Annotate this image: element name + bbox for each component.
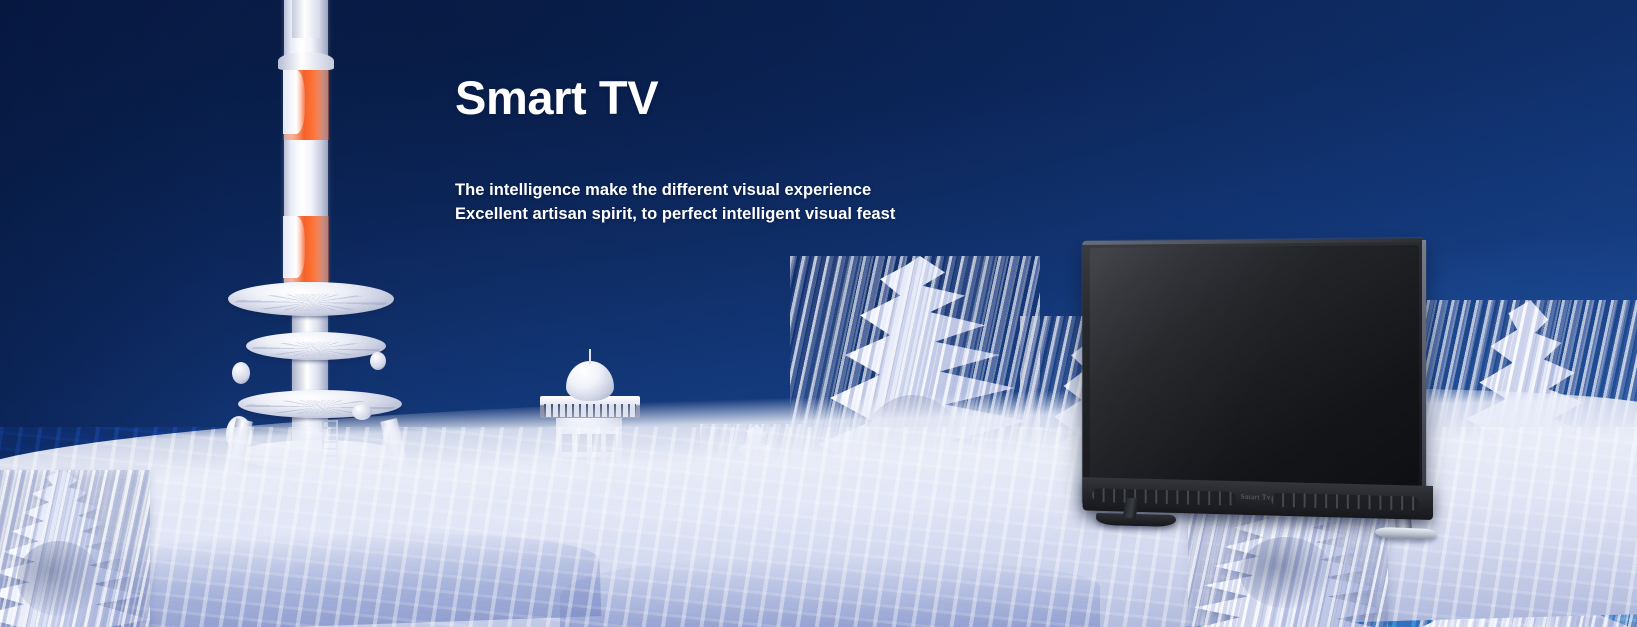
subtitle-line-1: The intelligence make the different visu… <box>455 179 1075 203</box>
tower-dish-platform-3 <box>238 390 402 418</box>
rime-tree-foreground-left <box>0 470 150 627</box>
tv-top-edge <box>1082 238 1426 245</box>
tower-dish-platform-2 <box>246 332 386 360</box>
tv-speaker-grille-left <box>1092 488 1236 506</box>
tower-antenna-pod-3 <box>370 352 386 370</box>
banner-subtitle: The intelligence make the different visu… <box>455 179 1075 227</box>
tower-mast-top <box>292 0 320 38</box>
tv-screen[interactable] <box>1090 245 1419 498</box>
tower-mast-flare <box>278 52 334 70</box>
tower-band-snow-upper <box>283 70 305 134</box>
tower-dish-platform-1 <box>228 282 394 316</box>
observatory-spire <box>589 349 591 364</box>
banner-copy: Smart TV The intelligence make the diffe… <box>455 72 1075 226</box>
smart-tv-hero-banner: Smart Tv Smart TV The intelligence make … <box>0 0 1637 627</box>
tv-bezel <box>1082 238 1426 508</box>
page-title: Smart TV <box>455 72 1075 125</box>
subtitle-line-2: Excellent artisan spirit, to perfect int… <box>455 203 1075 227</box>
tv-brand-logo: Smart Tv <box>1241 493 1271 502</box>
tv-panel[interactable] <box>1073 238 1426 508</box>
tower-band-snow-lower <box>283 216 305 278</box>
tower-antenna-pod-2 <box>232 362 250 384</box>
tv-right-edge <box>1422 240 1426 505</box>
tv-speaker-grille-right <box>1271 493 1419 511</box>
